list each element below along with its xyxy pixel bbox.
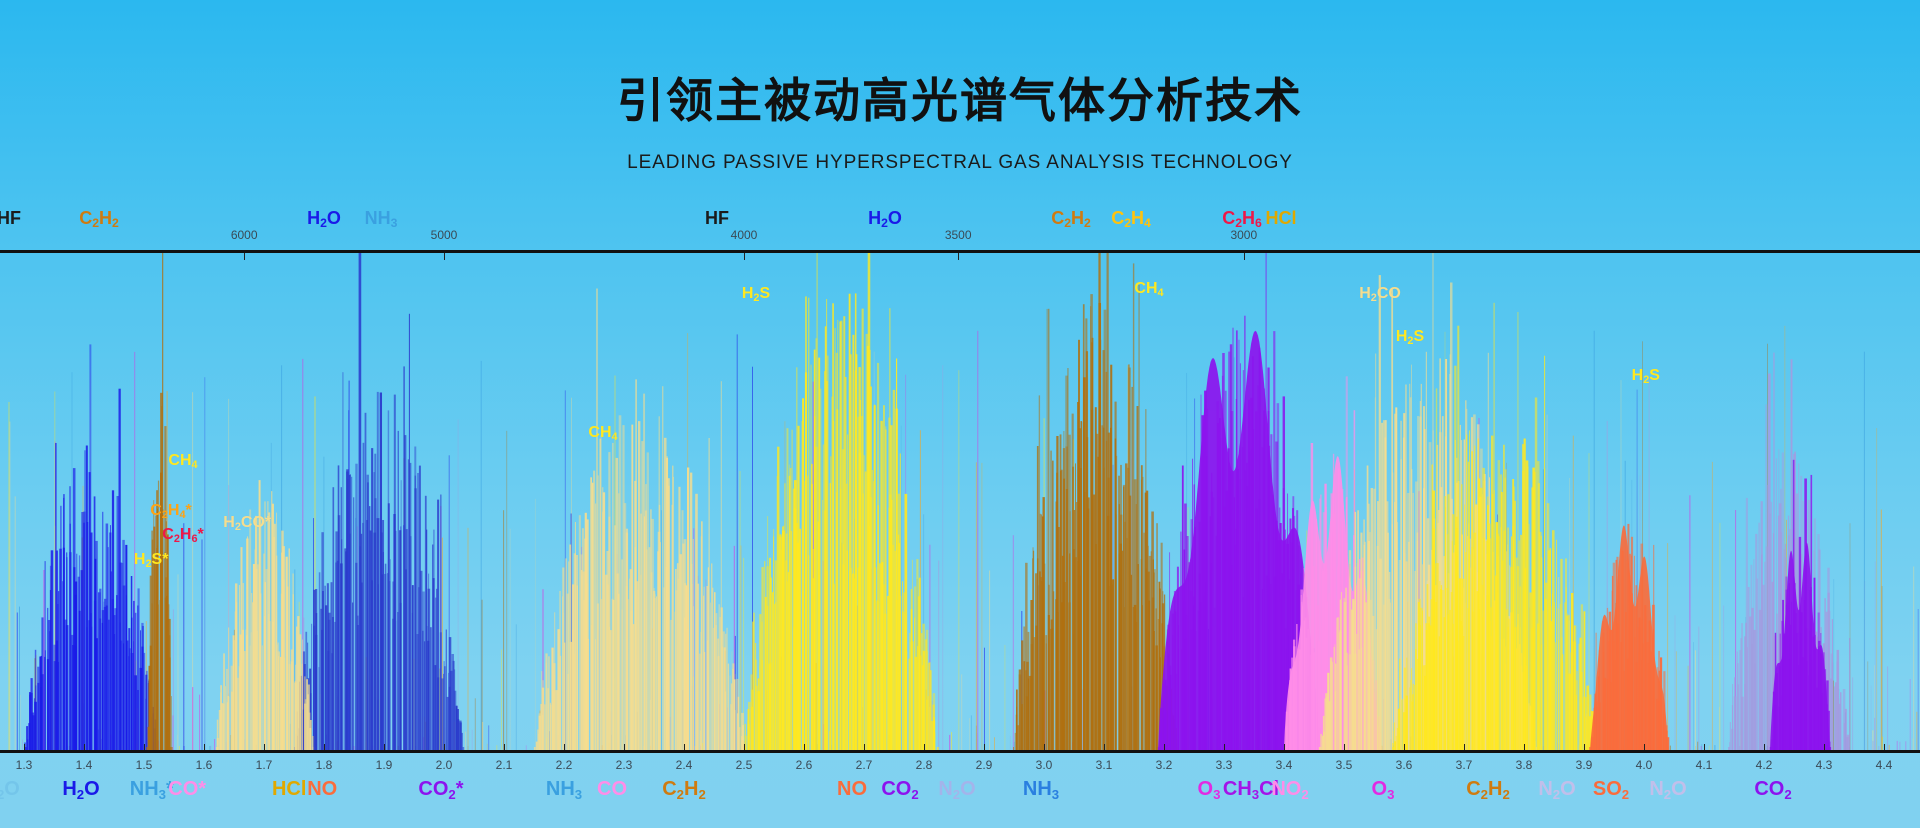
bottom-tick-label: 2.5 xyxy=(736,758,753,772)
top-gas-marker-hf2: HF xyxy=(705,208,729,229)
bottom-tick-mark xyxy=(924,744,925,750)
plot-label-ch4c: CH4 xyxy=(1134,280,1163,298)
bottom-tick-mark xyxy=(204,744,205,750)
bottom-tick-label: 2.0 xyxy=(436,758,453,772)
bottom-gas-marker-cos: CO* xyxy=(168,778,206,801)
bottom-gas-marker-co2s: CO2* xyxy=(418,778,463,801)
bottom-tick-label: 2.6 xyxy=(796,758,813,772)
bottom-tick-label: 4.4 xyxy=(1876,758,1893,772)
bottom-tick-mark xyxy=(384,744,385,750)
spectrum-plot xyxy=(0,253,1920,750)
bottom-tick-mark xyxy=(1404,744,1405,750)
bottom-gas-marker-co: CO xyxy=(597,778,627,801)
bottom-tick-label: 1.5 xyxy=(136,758,153,772)
spectral-band-h2o xyxy=(24,344,158,750)
top-tick-label: 5000 xyxy=(431,228,458,242)
bottom-tick-mark xyxy=(1884,744,1885,750)
top-tick-label: 3000 xyxy=(1230,228,1257,242)
bottom-tick-mark xyxy=(1584,744,1585,750)
spectral-band-h2o xyxy=(294,253,464,750)
bottom-tick-label: 1.3 xyxy=(16,758,33,772)
top-gas-marker-hcl: HCl xyxy=(1266,208,1297,229)
bottom-tick-mark xyxy=(24,744,25,750)
bottom-tick-label: 2.4 xyxy=(676,758,693,772)
bottom-gas-marker-o3b: O3 xyxy=(1372,778,1395,801)
bottom-tick-mark xyxy=(1704,744,1705,750)
plot-label-ch4b: CH4 xyxy=(588,424,617,442)
top-tick-label: 6000 xyxy=(231,228,258,242)
bottom-tick-mark xyxy=(804,744,805,750)
bottom-tick-mark xyxy=(1524,744,1525,750)
bottom-gas-marker-h2o: H2O xyxy=(62,778,99,801)
top-gas-marker-h2o2: H2O xyxy=(868,208,902,229)
top-gas-marker-c2h4: C2H4 xyxy=(1111,208,1151,229)
plot-label-ch4: CH4 xyxy=(168,452,197,470)
bottom-tick-label: 3.0 xyxy=(1036,758,1053,772)
bottom-tick-mark xyxy=(1164,744,1165,750)
bottom-tick-label: 1.6 xyxy=(196,758,213,772)
plot-label-h2sb: H2S xyxy=(1396,328,1424,346)
top-gas-marker-nh3: NH3 xyxy=(365,208,398,229)
bottom-tick-label: 1.9 xyxy=(376,758,393,772)
plot-label-h2cos: H2CO* xyxy=(223,514,271,532)
bottom-gas-marker-hcl: HCl xyxy=(272,778,306,801)
top-gas-marker-c2h6: C2H6 xyxy=(1222,208,1262,229)
bottom-tick-mark xyxy=(624,744,625,750)
bottom-tick-mark xyxy=(1764,744,1765,750)
spectral-band-c2h2 xyxy=(1013,253,1179,750)
top-gas-marker-h2o: H2O xyxy=(307,208,341,229)
bottom-tick-mark xyxy=(144,744,145,750)
bottom-gas-marker-h2o-edge: H2O xyxy=(0,778,20,801)
spectral-band-h2s xyxy=(745,253,939,750)
page-title: 引领主被动高光谱气体分析技术 xyxy=(0,62,1920,131)
plot-label-h2ss: H2S* xyxy=(134,551,169,569)
bottom-tick-label: 2.8 xyxy=(916,758,933,772)
top-gas-marker-c2h2: C2H2 xyxy=(79,208,119,229)
bottom-tick-mark xyxy=(744,744,745,750)
spectrum-canvas xyxy=(0,253,1920,750)
bottom-tick-label: 3.6 xyxy=(1396,758,1413,772)
spectral-band-so2 xyxy=(1589,524,1669,750)
bottom-tick-mark xyxy=(1464,744,1465,750)
bottom-tick-label: 2.1 xyxy=(496,758,513,772)
bottom-tick-label: 3.7 xyxy=(1456,758,1473,772)
plot-label-h2s: H2S xyxy=(742,285,770,303)
bottom-tick-label: 3.3 xyxy=(1216,758,1233,772)
bottom-gas-marker-n2o: N2O xyxy=(938,778,975,801)
bottom-tick-label: 3.2 xyxy=(1156,758,1173,772)
bottom-tick-mark xyxy=(504,744,505,750)
bottom-tick-mark xyxy=(444,744,445,750)
plot-label-h2sc: H2S xyxy=(1632,367,1660,385)
bottom-tick-mark xyxy=(1824,744,1825,750)
bottom-tick-label: 1.4 xyxy=(76,758,93,772)
poster-header: 引领主被动高光谱气体分析技术 LEADING PASSIVE HYPERSPEC… xyxy=(0,0,1920,200)
bottom-tick-mark xyxy=(864,744,865,750)
bottom-tick-label: 3.9 xyxy=(1576,758,1593,772)
bottom-tick-label: 2.7 xyxy=(856,758,873,772)
bottom-tick-mark xyxy=(1344,744,1345,750)
bottom-tick-label: 1.7 xyxy=(256,758,273,772)
plot-label-c2h4s: C2H4* xyxy=(150,502,191,520)
spectrum-poster: 引领主被动高光谱气体分析技术 LEADING PASSIVE HYPERSPEC… xyxy=(0,0,1920,828)
top-gas-marker-hf: HF xyxy=(0,208,21,229)
bottom-gas-marker-co2: CO2 xyxy=(881,778,918,801)
bottom-tick-label: 3.5 xyxy=(1336,758,1353,772)
plot-label-c2h6s: C2H6* xyxy=(162,526,203,544)
top-tick-label: 3500 xyxy=(945,228,972,242)
bottom-gas-marker-no2: NO xyxy=(837,778,867,801)
bottom-gas-marker-n2oc: N2O xyxy=(1649,778,1686,801)
top-tick-label: 4000 xyxy=(731,228,758,242)
bottom-tick-mark xyxy=(1104,744,1105,750)
bottom-tick-label: 3.8 xyxy=(1516,758,1533,772)
bottom-gas-marker-nh3s: NH3* xyxy=(130,778,174,801)
bottom-tick-mark xyxy=(1224,744,1225,750)
bottom-tick-mark xyxy=(84,744,85,750)
bottom-tick-label: 4.2 xyxy=(1756,758,1773,772)
bottom-gas-marker-nh3: NH3 xyxy=(546,778,582,801)
bottom-tick-mark xyxy=(264,744,265,750)
bottom-tick-label: 2.9 xyxy=(976,758,993,772)
bottom-axis xyxy=(0,750,1920,753)
bottom-tick-mark xyxy=(684,744,685,750)
bottom-gas-marker-nh3b: NH3 xyxy=(1023,778,1059,801)
bottom-tick-label: 4.0 xyxy=(1636,758,1653,772)
bottom-tick-label: 3.4 xyxy=(1276,758,1293,772)
bottom-tick-mark xyxy=(1284,744,1285,750)
bottom-tick-label: 1.8 xyxy=(316,758,333,772)
page-subtitle: LEADING PASSIVE HYPERSPECTRAL GAS ANALYS… xyxy=(0,152,1920,174)
plot-label-h2co: H2CO xyxy=(1359,285,1401,303)
bottom-gas-marker-co2b: CO2 xyxy=(1754,778,1791,801)
bottom-tick-label: 3.1 xyxy=(1096,758,1113,772)
bottom-gas-marker-no2b: NO2 xyxy=(1271,778,1308,801)
bottom-gas-marker-c2h2b: C2H2 xyxy=(1466,778,1510,801)
bottom-tick-label: 4.1 xyxy=(1696,758,1713,772)
bottom-tick-mark xyxy=(324,744,325,750)
bottom-gas-marker-so2: SO2 xyxy=(1593,778,1629,801)
bottom-gas-marker-c2h2: C2H2 xyxy=(662,778,706,801)
bottom-tick-label: 2.2 xyxy=(556,758,573,772)
bottom-gas-marker-n2ob: N2O xyxy=(1538,778,1575,801)
bottom-gas-marker-no: NO xyxy=(307,778,337,801)
bottom-tick-mark xyxy=(564,744,565,750)
bottom-tick-mark xyxy=(1644,744,1645,750)
bottom-gas-marker-o3: O3 xyxy=(1198,778,1221,801)
bottom-tick-mark xyxy=(1044,744,1045,750)
top-gas-marker-c2h2b: C2H2 xyxy=(1051,208,1091,229)
bottom-tick-label: 2.3 xyxy=(616,758,633,772)
bottom-tick-mark xyxy=(984,744,985,750)
bottom-tick-label: 4.3 xyxy=(1816,758,1833,772)
